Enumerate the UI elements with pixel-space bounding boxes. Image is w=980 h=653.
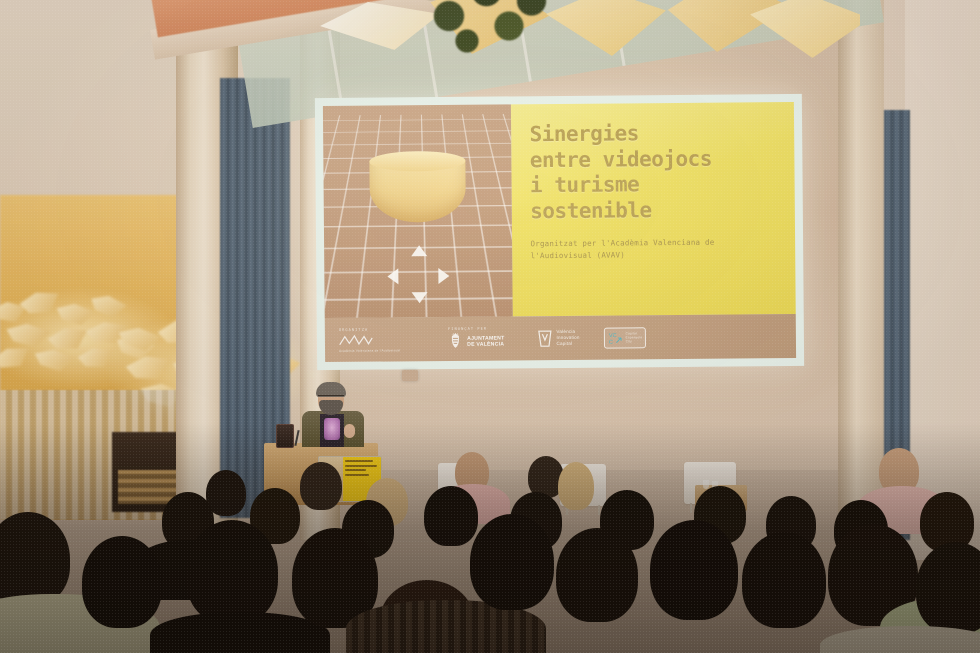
- audience-head-blonde: [558, 462, 594, 510]
- audience-shoulder: [150, 612, 330, 653]
- audience-head: [470, 514, 554, 610]
- audience-head: [186, 520, 278, 624]
- audience-head: [556, 528, 638, 622]
- audience-shoulder-cream: [820, 626, 980, 653]
- audience-head: [650, 520, 738, 620]
- audience: [0, 0, 980, 653]
- audience-head: [916, 542, 980, 634]
- audience-head: [0, 512, 70, 606]
- audience-head: [424, 486, 478, 546]
- audience-head: [742, 532, 826, 628]
- audience-head: [82, 536, 162, 628]
- audience-head: [300, 462, 342, 510]
- photo-canvas: Sinergies entre videojocs i turisme sost…: [0, 0, 980, 653]
